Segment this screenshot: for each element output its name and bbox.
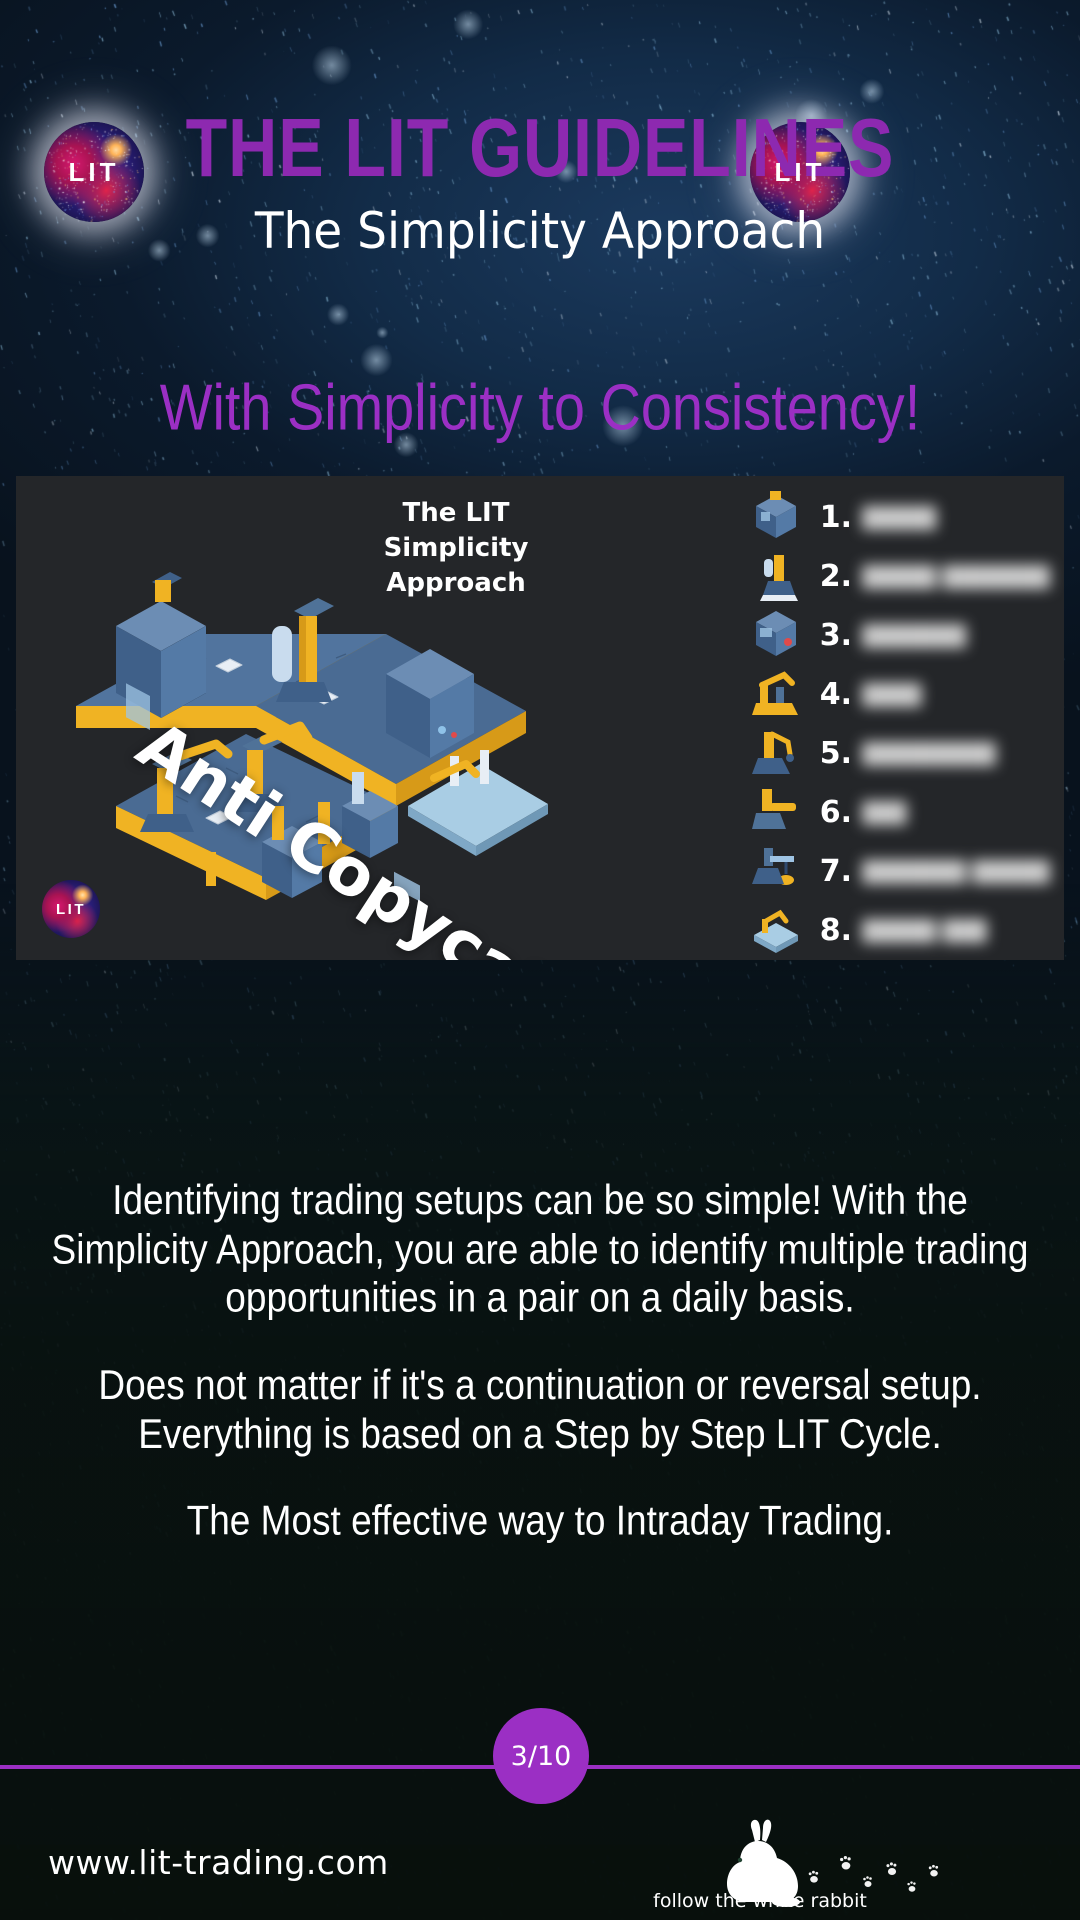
- step-number: 6.: [812, 795, 852, 830]
- step-label-blurred: ████: [862, 683, 1050, 707]
- panel-lit-badge-label: LIT: [56, 901, 86, 918]
- panel-lit-badge: LIT: [42, 880, 100, 938]
- step-number: 4.: [812, 677, 852, 712]
- rabbit-branding: follow the white rabbit: [600, 1818, 1000, 1918]
- step-machine-icon: [750, 726, 802, 782]
- step-machine-icon: [750, 785, 802, 841]
- page-title: THE LIT GUIDELINES: [43, 100, 1037, 195]
- step-label-blurred: █████████: [862, 742, 1050, 766]
- step-number: 3.: [812, 618, 852, 653]
- paw-prints-icon: [809, 1856, 938, 1892]
- panel-title-line2: Simplicity Approach: [384, 533, 529, 598]
- step-row: 5.█████████: [750, 724, 1050, 783]
- panel-title: The LIT Simplicity Approach: [316, 496, 596, 601]
- paragraph-spacer: [36, 1323, 1044, 1361]
- steps-list: 1.█████2.█████ ████████3.███████4.████5.…: [750, 482, 1050, 960]
- step-number: 2.: [812, 559, 852, 594]
- panel-title-line1: The LIT: [403, 498, 510, 528]
- page-indicator: 3/10: [493, 1708, 589, 1804]
- step-machine-icon: [750, 667, 802, 723]
- lit-logo-left-label: LIT: [69, 157, 120, 188]
- step-label-blurred: █████ ████████: [862, 565, 1050, 589]
- step-machine-icon: [750, 903, 802, 959]
- rabbit-caption: follow the white rabbit: [600, 1890, 920, 1912]
- step-row: 8.█████ ███: [750, 901, 1050, 960]
- step-number: 5.: [812, 736, 852, 771]
- step-number: 1.: [812, 500, 852, 535]
- poster-root: LIT LIT THE LIT GUIDELINES The Simplicit…: [0, 0, 1080, 1920]
- body-paragraph-1: Identifying trading setups can be so sim…: [36, 1176, 1044, 1323]
- step-label-blurred: █████ ███: [862, 919, 1050, 943]
- step-machine-icon: [750, 608, 802, 664]
- body-copy: Identifying trading setups can be so sim…: [36, 1176, 1044, 1546]
- step-machine-icon: [750, 490, 802, 546]
- lit-logo-right-label: LIT: [775, 157, 826, 188]
- page-subtitle: The Simplicity Approach: [32, 202, 1047, 260]
- body-paragraph-2: Does not matter if it's a continuation o…: [36, 1361, 1044, 1459]
- step-number: 8.: [812, 913, 852, 948]
- step-number: 7.: [812, 854, 852, 889]
- paragraph-spacer: [36, 1459, 1044, 1497]
- tagline: With Simplicity to Consistency!: [11, 370, 1069, 445]
- step-row: 1.█████: [750, 488, 1050, 547]
- step-label-blurred: ███: [862, 801, 1050, 825]
- step-row: 7.███████ ██████: [750, 842, 1050, 901]
- body-paragraph-3: The Most effective way to Intraday Tradi…: [36, 1497, 1044, 1546]
- header: LIT LIT THE LIT GUIDELINES The Simplicit…: [0, 0, 1080, 290]
- step-row: 4.████: [750, 665, 1050, 724]
- step-row: 2.█████ ████████: [750, 547, 1050, 606]
- step-row: 6.███: [750, 783, 1050, 842]
- step-label-blurred: ███████: [862, 624, 1050, 648]
- step-label-blurred: ███████ ██████: [862, 860, 1050, 884]
- illustration-panel: The LIT Simplicity Approach 1.█████2.███…: [16, 476, 1064, 960]
- step-row: 3.███████: [750, 606, 1050, 665]
- website-url: www.lit-trading.com: [48, 1843, 389, 1882]
- step-machine-icon: [750, 549, 802, 605]
- step-label-blurred: █████: [862, 506, 1050, 530]
- step-machine-icon: [750, 844, 802, 900]
